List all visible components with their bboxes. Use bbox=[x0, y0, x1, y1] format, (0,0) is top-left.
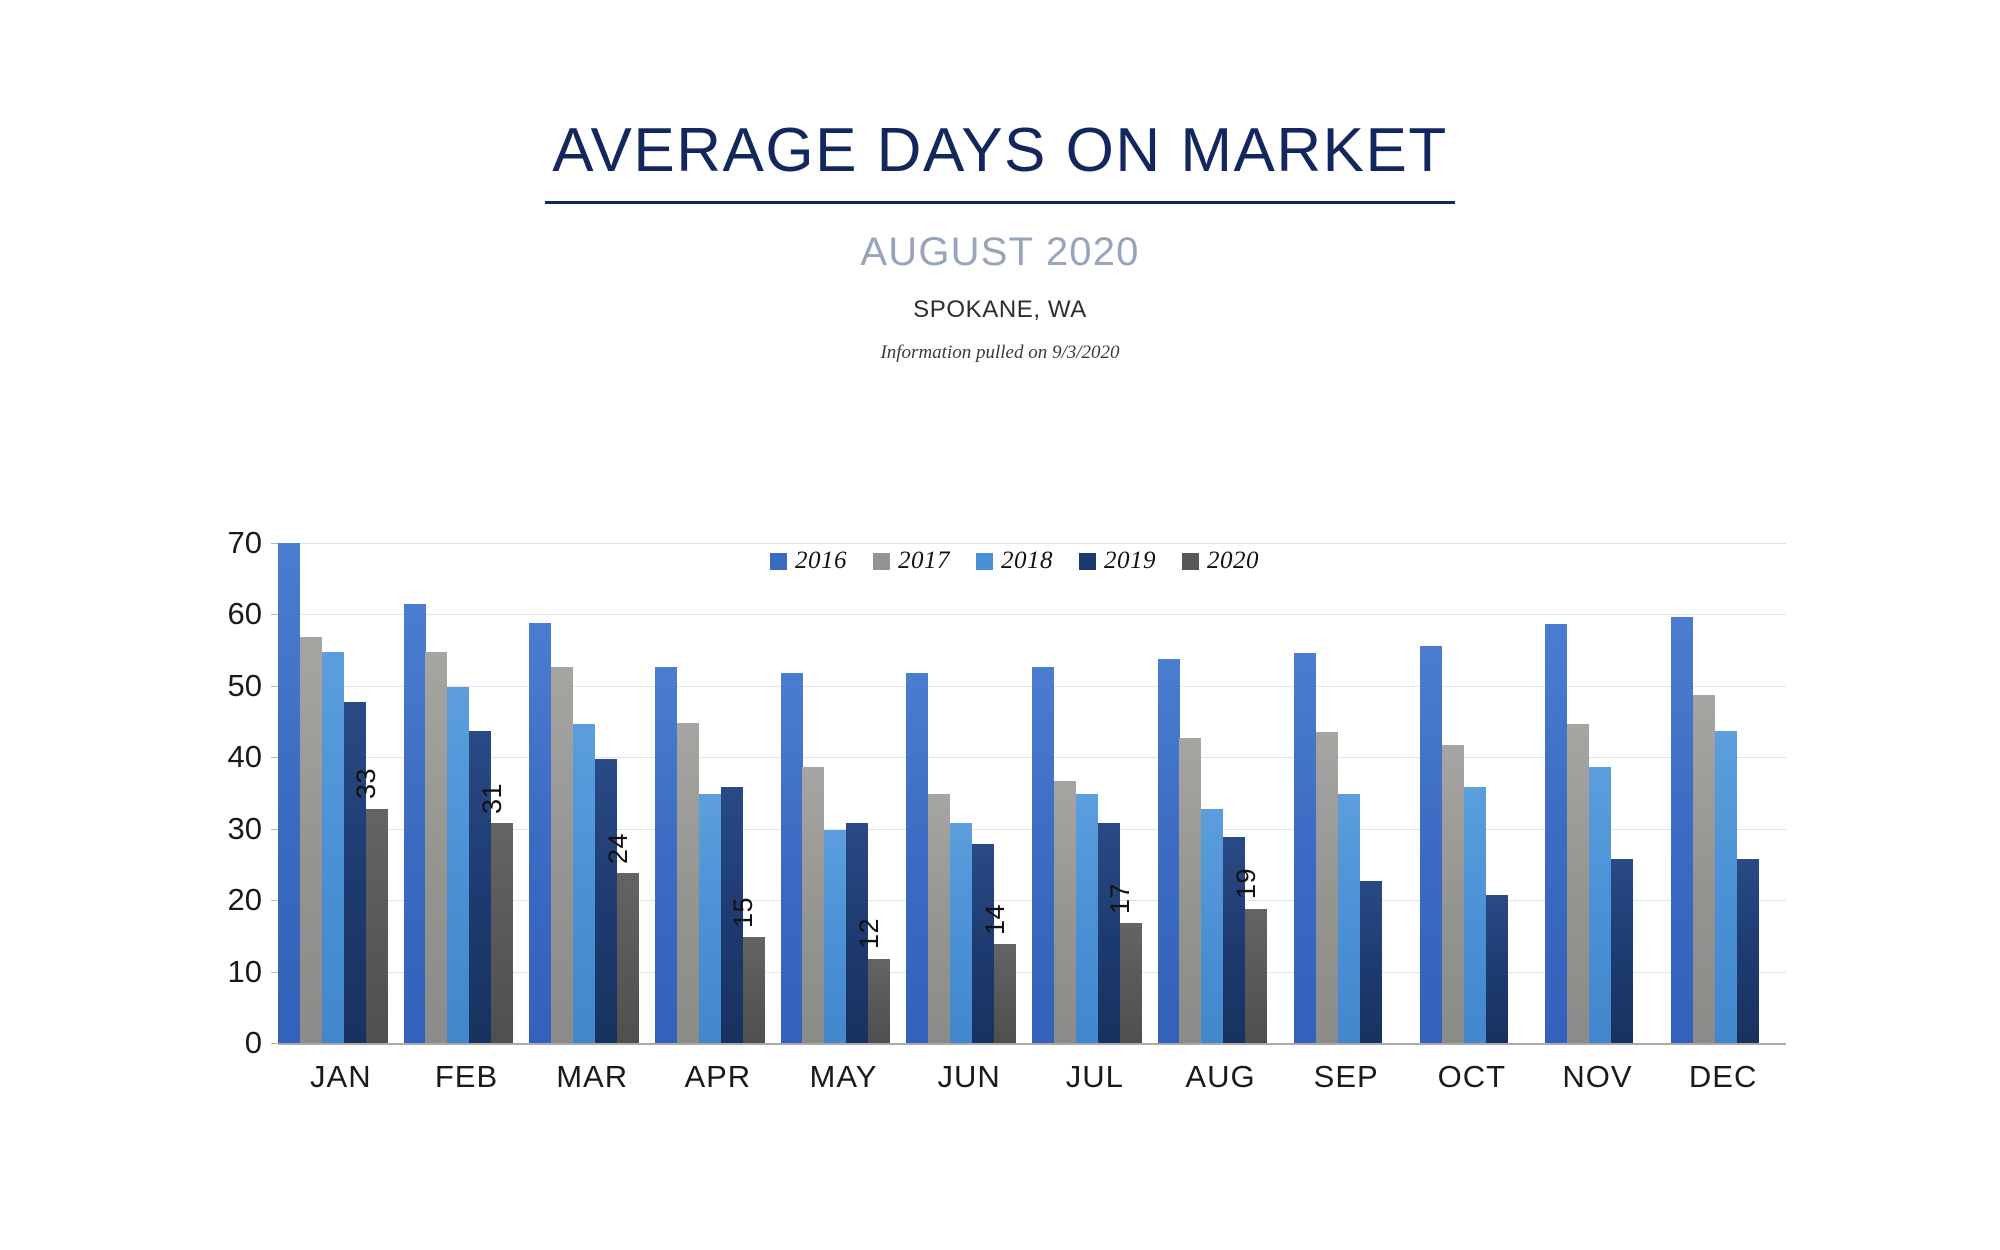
bar-jun-2018[interactable] bbox=[950, 823, 972, 1043]
bar-group-aug: 19 bbox=[1158, 543, 1284, 1043]
bar-aug-2016[interactable] bbox=[1158, 659, 1180, 1043]
bar-feb-2016[interactable] bbox=[404, 604, 426, 1043]
x-axis-tick-label-dec: DEC bbox=[1660, 1059, 1786, 1095]
y-axis-tick-label: 20 bbox=[192, 882, 262, 918]
x-axis-tick-label-jun: JUN bbox=[906, 1059, 1032, 1095]
x-axis-tick-label-nov: NOV bbox=[1535, 1059, 1661, 1095]
bar-value-label-may: 12 bbox=[854, 918, 885, 949]
legend-swatch-icon-2018 bbox=[976, 553, 993, 570]
bar-jan-2018[interactable] bbox=[322, 652, 344, 1043]
bar-aug-2017[interactable] bbox=[1179, 738, 1201, 1043]
legend-item-2020[interactable]: 2020 bbox=[1182, 547, 1259, 575]
bar-mar-2017[interactable] bbox=[551, 667, 573, 1043]
legend-item-2017[interactable]: 2017 bbox=[873, 547, 950, 575]
x-axis-tick-label-feb: FEB bbox=[404, 1059, 530, 1095]
legend-swatch-icon-2017 bbox=[873, 553, 890, 570]
bar-apr-2020[interactable] bbox=[743, 937, 765, 1043]
bar-mar-2018[interactable] bbox=[573, 724, 595, 1043]
x-axis-line bbox=[278, 1043, 1786, 1045]
bar-dec-2018[interactable] bbox=[1715, 731, 1737, 1043]
y-axis-labels: 010203040506070 bbox=[188, 543, 262, 1043]
bar-may-2020[interactable] bbox=[868, 959, 890, 1043]
y-axis-tick-label: 0 bbox=[192, 1025, 262, 1061]
bar-sep-2017[interactable] bbox=[1316, 732, 1338, 1043]
bar-sep-2016[interactable] bbox=[1294, 653, 1316, 1043]
bar-group-apr: 15 bbox=[655, 543, 781, 1043]
x-axis-tick-label-aug: AUG bbox=[1158, 1059, 1284, 1095]
bar-nov-2016[interactable] bbox=[1545, 624, 1567, 1043]
bar-oct-2019[interactable] bbox=[1486, 895, 1508, 1043]
bar-jan-2020[interactable] bbox=[366, 809, 388, 1043]
bar-feb-2018[interactable] bbox=[447, 687, 469, 1043]
y-axis-tick-label: 60 bbox=[192, 596, 262, 632]
bar-apr-2017[interactable] bbox=[677, 723, 699, 1043]
bar-sep-2018[interactable] bbox=[1338, 794, 1360, 1043]
legend-label-2016: 2016 bbox=[795, 547, 847, 575]
bar-may-2017[interactable] bbox=[802, 767, 824, 1043]
bar-mar-2020[interactable] bbox=[617, 873, 639, 1043]
bar-mar-2016[interactable] bbox=[529, 623, 551, 1043]
bar-jul-2020[interactable] bbox=[1120, 923, 1142, 1043]
bar-jul-2019[interactable] bbox=[1098, 823, 1120, 1043]
bar-feb-2019[interactable] bbox=[469, 731, 491, 1043]
bar-group-mar: 24 bbox=[529, 543, 655, 1043]
bar-aug-2020[interactable] bbox=[1245, 909, 1267, 1043]
bar-oct-2017[interactable] bbox=[1442, 745, 1464, 1043]
bar-nov-2018[interactable] bbox=[1589, 767, 1611, 1043]
bar-group-feb: 31 bbox=[404, 543, 530, 1043]
bar-oct-2018[interactable] bbox=[1464, 787, 1486, 1043]
bar-jul-2017[interactable] bbox=[1054, 781, 1076, 1043]
bar-value-label-apr: 15 bbox=[728, 897, 759, 928]
x-axis-tick-label-mar: MAR bbox=[529, 1059, 655, 1095]
bar-aug-2018[interactable] bbox=[1201, 809, 1223, 1043]
legend-item-2018[interactable]: 2018 bbox=[976, 547, 1053, 575]
legend-swatch-icon-2019 bbox=[1079, 553, 1096, 570]
bar-jan-2016[interactable] bbox=[278, 543, 300, 1043]
legend-item-2016[interactable]: 2016 bbox=[770, 547, 847, 575]
bar-feb-2017[interactable] bbox=[425, 652, 447, 1043]
bar-feb-2020[interactable] bbox=[491, 823, 513, 1043]
bar-jan-2017[interactable] bbox=[300, 637, 322, 1043]
bar-oct-2016[interactable] bbox=[1420, 646, 1442, 1043]
bar-value-label-jul: 17 bbox=[1105, 883, 1136, 914]
bar-dec-2017[interactable] bbox=[1693, 695, 1715, 1043]
bar-nov-2019[interactable] bbox=[1611, 859, 1633, 1043]
bar-value-label-aug: 19 bbox=[1231, 868, 1262, 899]
x-axis-tick-label-apr: APR bbox=[655, 1059, 781, 1095]
bar-jun-2019[interactable] bbox=[972, 844, 994, 1043]
y-axis-tick-label: 50 bbox=[192, 668, 262, 704]
bar-value-label-jan: 33 bbox=[351, 768, 382, 799]
bar-mar-2019[interactable] bbox=[595, 759, 617, 1043]
bar-sep-2019[interactable] bbox=[1360, 881, 1382, 1043]
plot-area: 33JAN31FEB24MAR15APR12MAY14JUN17JUL19AUG… bbox=[278, 543, 1786, 1043]
legend-label-2017: 2017 bbox=[898, 547, 950, 575]
bar-value-label-mar: 24 bbox=[603, 833, 634, 864]
bar-dec-2016[interactable] bbox=[1671, 617, 1693, 1043]
legend-label-2018: 2018 bbox=[1001, 547, 1053, 575]
bar-chart: 010203040506070 33JAN31FEB24MAR15APR12MA… bbox=[0, 0, 2000, 1250]
bar-may-2016[interactable] bbox=[781, 673, 803, 1043]
bar-group-jun: 14 bbox=[906, 543, 1032, 1043]
bar-group-may: 12 bbox=[781, 543, 907, 1043]
bar-jan-2019[interactable] bbox=[344, 702, 366, 1043]
legend-swatch-icon-2016 bbox=[770, 553, 787, 570]
bar-jun-2016[interactable] bbox=[906, 673, 928, 1043]
legend-label-2020: 2020 bbox=[1207, 547, 1259, 575]
chart-legend: 20162017201820192020 bbox=[770, 547, 1259, 575]
bar-apr-2016[interactable] bbox=[655, 667, 677, 1043]
bar-group-jan: 33 bbox=[278, 543, 404, 1043]
y-axis-tick-label: 30 bbox=[192, 811, 262, 847]
x-axis-tick-label-sep: SEP bbox=[1283, 1059, 1409, 1095]
bar-jun-2017[interactable] bbox=[928, 794, 950, 1043]
y-axis-tick-label: 70 bbox=[192, 525, 262, 561]
y-axis-tick bbox=[271, 1043, 278, 1044]
y-axis-tick-label: 10 bbox=[192, 954, 262, 990]
y-axis-tick-label: 40 bbox=[192, 739, 262, 775]
legend-label-2019: 2019 bbox=[1104, 547, 1156, 575]
legend-swatch-icon-2020 bbox=[1182, 553, 1199, 570]
bar-nov-2017[interactable] bbox=[1567, 724, 1589, 1043]
bar-group-jul: 17 bbox=[1032, 543, 1158, 1043]
x-axis-tick-label-jul: JUL bbox=[1032, 1059, 1158, 1095]
bar-jun-2020[interactable] bbox=[994, 944, 1016, 1043]
bar-group-nov bbox=[1535, 543, 1661, 1043]
bar-dec-2019[interactable] bbox=[1737, 859, 1759, 1043]
bar-jul-2018[interactable] bbox=[1076, 794, 1098, 1043]
bar-may-2018[interactable] bbox=[824, 830, 846, 1043]
bar-group-oct bbox=[1409, 543, 1535, 1043]
bar-apr-2018[interactable] bbox=[699, 794, 721, 1043]
x-axis-tick-label-oct: OCT bbox=[1409, 1059, 1535, 1095]
x-axis-tick-label-may: MAY bbox=[781, 1059, 907, 1095]
legend-item-2019[interactable]: 2019 bbox=[1079, 547, 1156, 575]
bar-jul-2016[interactable] bbox=[1032, 667, 1054, 1043]
bar-value-label-feb: 31 bbox=[477, 783, 508, 814]
bar-group-sep bbox=[1283, 543, 1409, 1043]
x-axis-tick-label-jan: JAN bbox=[278, 1059, 404, 1095]
bar-value-label-jun: 14 bbox=[980, 904, 1011, 935]
bar-group-dec bbox=[1660, 543, 1786, 1043]
